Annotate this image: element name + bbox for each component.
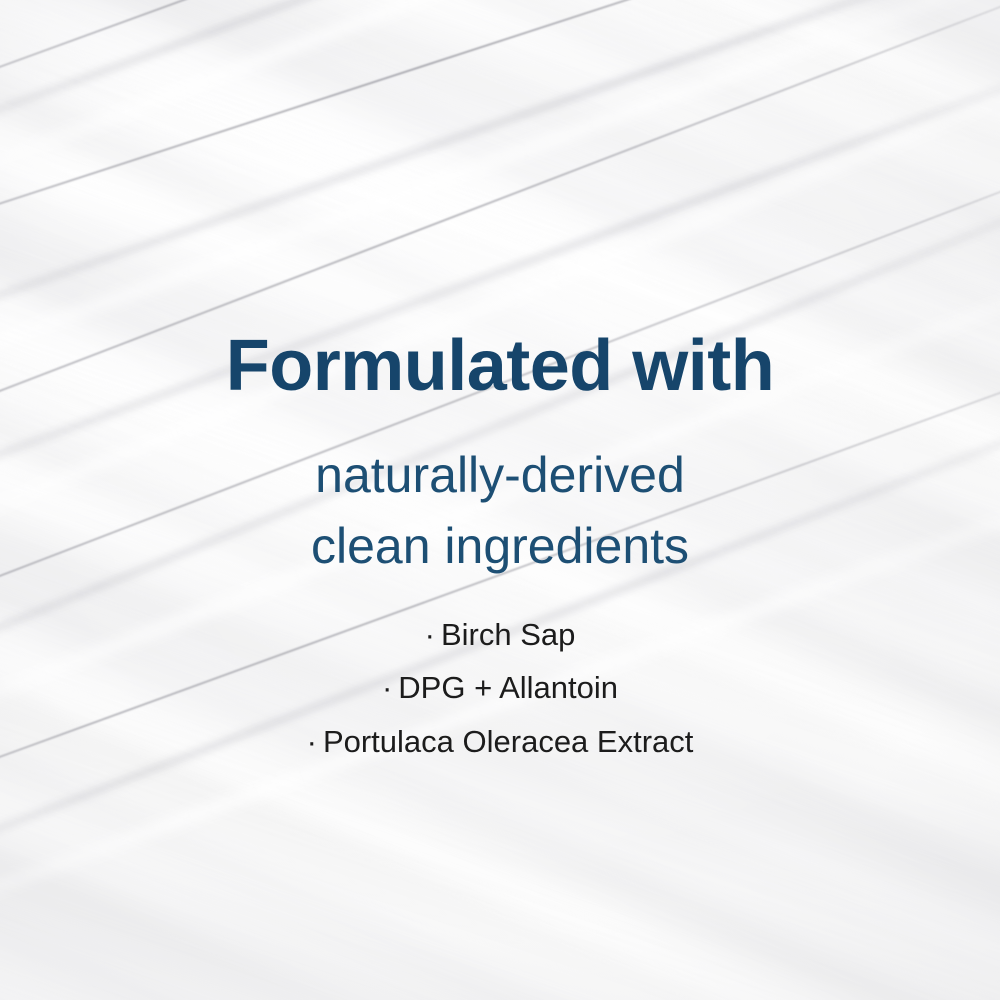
bullet-dot-icon: · [425,617,435,652]
headline: Formulated with [0,330,1000,402]
ingredient-list: ·Birch Sap ·DPG + Allantoin ·Portulaca O… [0,608,1000,768]
bullet-dot-icon: · [382,670,392,705]
text-content-block: Formulated with naturally-derived clean … [0,0,1000,1000]
list-item: ·DPG + Allantoin [0,661,1000,714]
subheadline-line-1: naturally-derived [0,440,1000,511]
ingredient-label: Birch Sap [441,617,575,652]
bullet-dot-icon: · [307,724,317,759]
list-item: ·Portulaca Oleracea Extract [0,715,1000,768]
subheadline: naturally-derived clean ingredients [0,440,1000,582]
list-item: ·Birch Sap [0,608,1000,661]
ingredient-label: DPG + Allantoin [398,670,618,705]
product-graphic-canvas: Formulated with naturally-derived clean … [0,0,1000,1000]
ingredient-label: Portulaca Oleracea Extract [323,724,693,759]
subheadline-line-2: clean ingredients [0,511,1000,582]
